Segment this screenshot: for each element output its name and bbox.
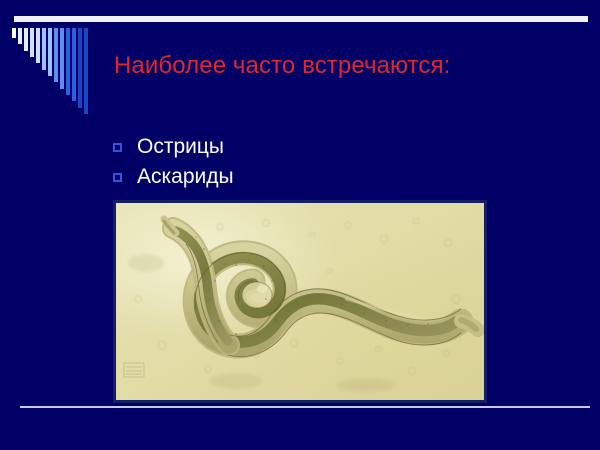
worm-body: [164, 219, 478, 357]
fan-bar: [66, 28, 70, 95]
fan-bar: [72, 28, 76, 101]
square-outline-bullet-icon: [113, 143, 122, 152]
list-item: Острицы: [113, 132, 493, 162]
bottom-divider-rule: [20, 406, 590, 408]
bullet-list: Острицы Аскариды: [113, 132, 493, 192]
fan-bar: [12, 28, 16, 38]
fan-bar: [24, 28, 28, 51]
list-item: Аскариды: [113, 162, 493, 192]
photo-corner-artifact: [124, 363, 144, 377]
top-divider-rule: [14, 16, 588, 22]
fan-bar: [42, 28, 46, 70]
photo-content: [116, 203, 484, 400]
slide-title: Наиболее часто встречаются:: [114, 52, 450, 80]
fan-bar: [18, 28, 22, 44]
list-item-label: Острицы: [137, 135, 224, 159]
pinworm-microscopy-photo: [113, 200, 487, 403]
list-item-label: Аскариды: [137, 165, 234, 189]
fan-bar: [30, 28, 34, 57]
fan-bar: [78, 28, 82, 108]
fan-bar: [48, 28, 52, 76]
triangular-bar-fan-decoration: [12, 28, 96, 114]
worm-illustration: [116, 203, 484, 400]
presentation-slide: Наиболее часто встречаются: Острицы Аска…: [0, 0, 600, 450]
fan-bar: [84, 28, 88, 114]
fan-bar: [60, 28, 64, 89]
fan-bar: [54, 28, 58, 82]
fan-bar: [36, 28, 40, 63]
square-outline-bullet-icon: [113, 173, 122, 182]
